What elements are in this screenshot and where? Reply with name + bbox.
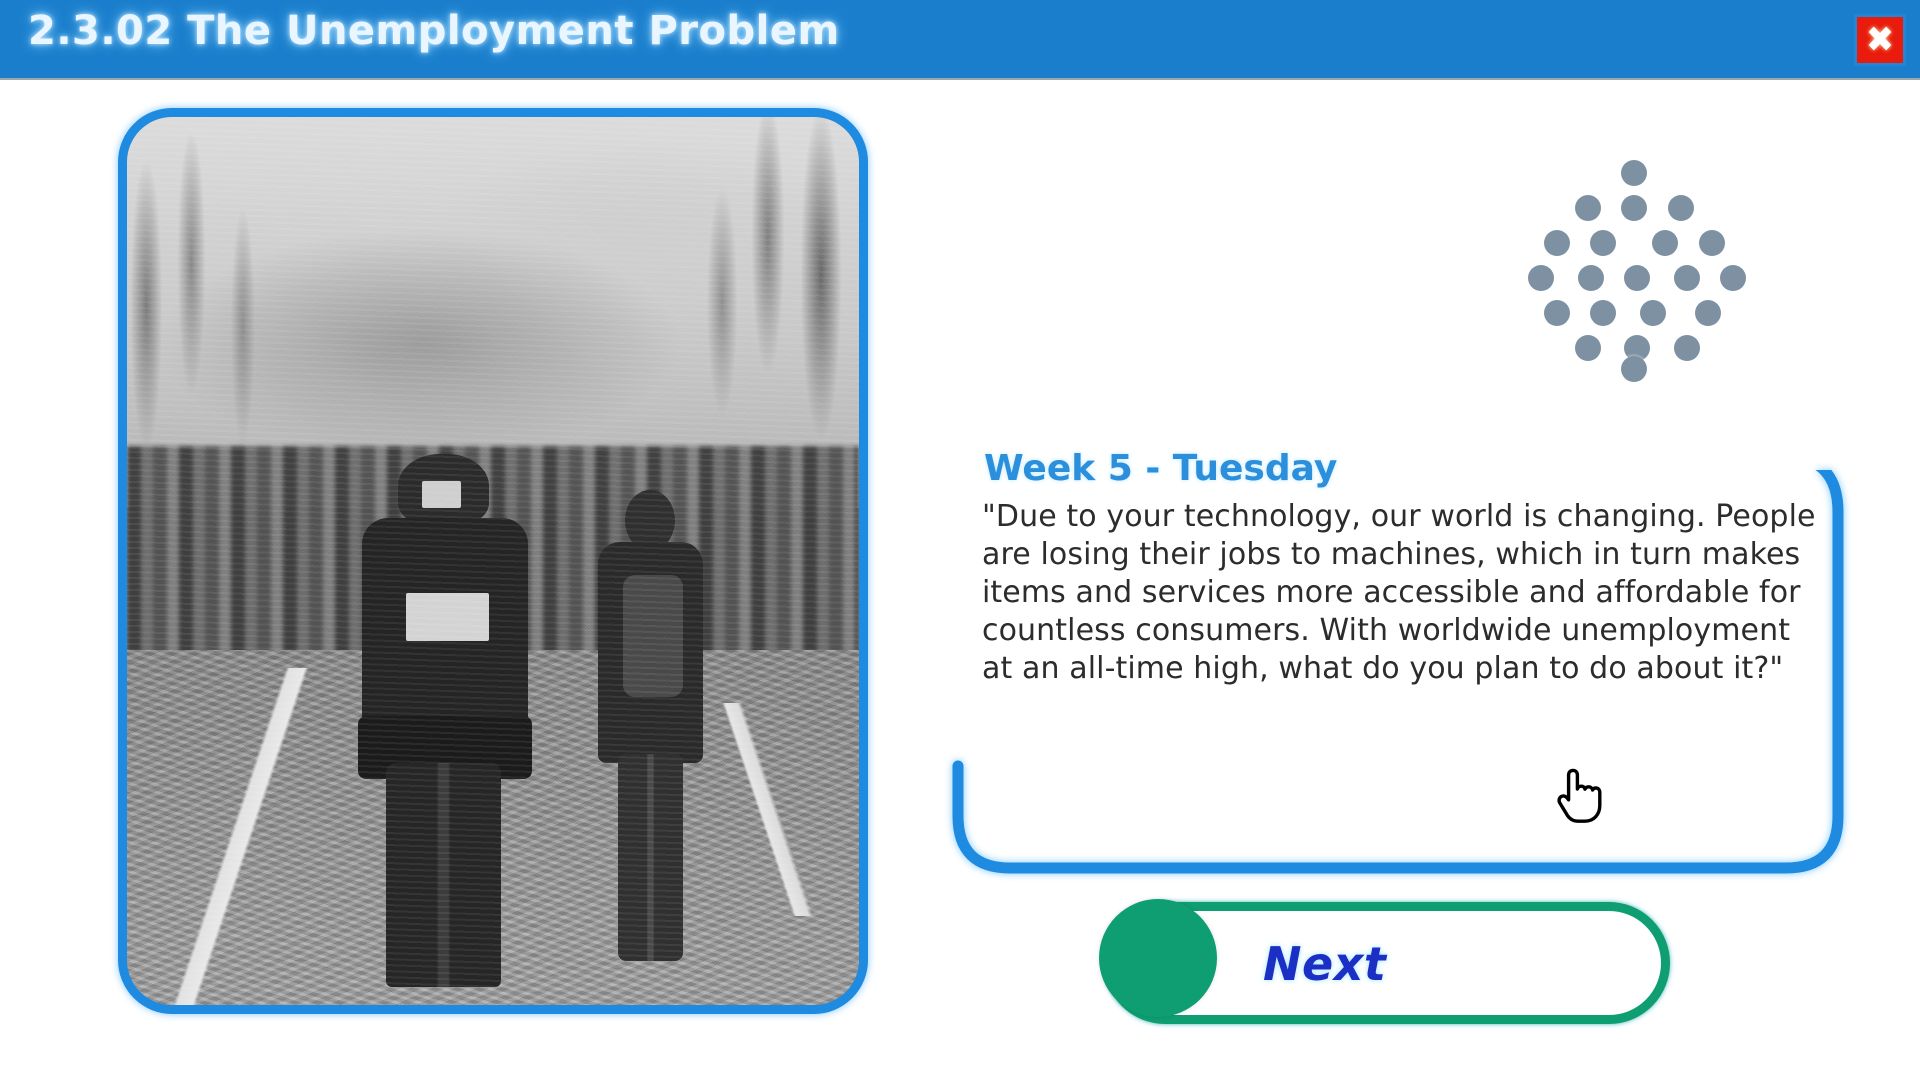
dot-cluster-dot — [1621, 160, 1647, 186]
speech-bubble-text: "Due to your technology, our world is ch… — [982, 498, 1822, 688]
dot-cluster-dot — [1674, 265, 1700, 291]
officer-legs — [386, 763, 501, 987]
dot-cluster-dot — [1624, 265, 1650, 291]
next-button-label: Next — [1263, 937, 1386, 991]
title-bar: 2.3.02 The Unemployment Problem ✖ — [0, 0, 1920, 80]
dot-cluster-dot — [1652, 230, 1678, 256]
next-button-knob — [1099, 899, 1217, 1017]
close-button[interactable]: ✖ — [1854, 14, 1906, 66]
illustration-photo-panel — [118, 108, 868, 1014]
dot-cluster-dot — [1575, 335, 1601, 361]
dot-cluster-dot — [1544, 230, 1570, 256]
dot-cluster-icon — [1528, 160, 1740, 370]
civilian-legs — [618, 754, 683, 961]
speech-bubble: Week 5 - Tuesday "Due to your technology… — [952, 470, 1872, 880]
dot-cluster-dot — [1640, 300, 1666, 326]
dot-cluster-dot — [1720, 265, 1746, 291]
officer-vest-patch — [406, 593, 489, 641]
dot-cluster-dot — [1528, 265, 1554, 291]
dot-cluster-dot — [1544, 300, 1570, 326]
photo-figure-officer — [347, 454, 545, 987]
pointing-hand-cursor — [1552, 766, 1604, 826]
dot-cluster-dot — [1621, 356, 1647, 382]
close-x-icon: ✖ — [1866, 22, 1895, 58]
dot-cluster-dot — [1578, 265, 1604, 291]
photo-figure-civilian — [588, 490, 712, 961]
civilian-backpack — [623, 575, 683, 697]
speech-bubble-heading: Week 5 - Tuesday — [984, 448, 1337, 489]
next-button[interactable]: Next — [1104, 902, 1670, 1024]
dot-cluster-dot — [1668, 195, 1694, 221]
page-title: 2.3.02 The Unemployment Problem — [28, 8, 840, 54]
dot-cluster-dot — [1621, 195, 1647, 221]
dot-cluster-dot — [1699, 230, 1725, 256]
dot-cluster-dot — [1674, 335, 1700, 361]
dot-cluster-dot — [1590, 300, 1616, 326]
dot-cluster-dot — [1590, 230, 1616, 256]
officer-helmet-stripe — [422, 481, 462, 508]
dot-cluster-dot — [1695, 300, 1721, 326]
dot-cluster-dot — [1575, 195, 1601, 221]
